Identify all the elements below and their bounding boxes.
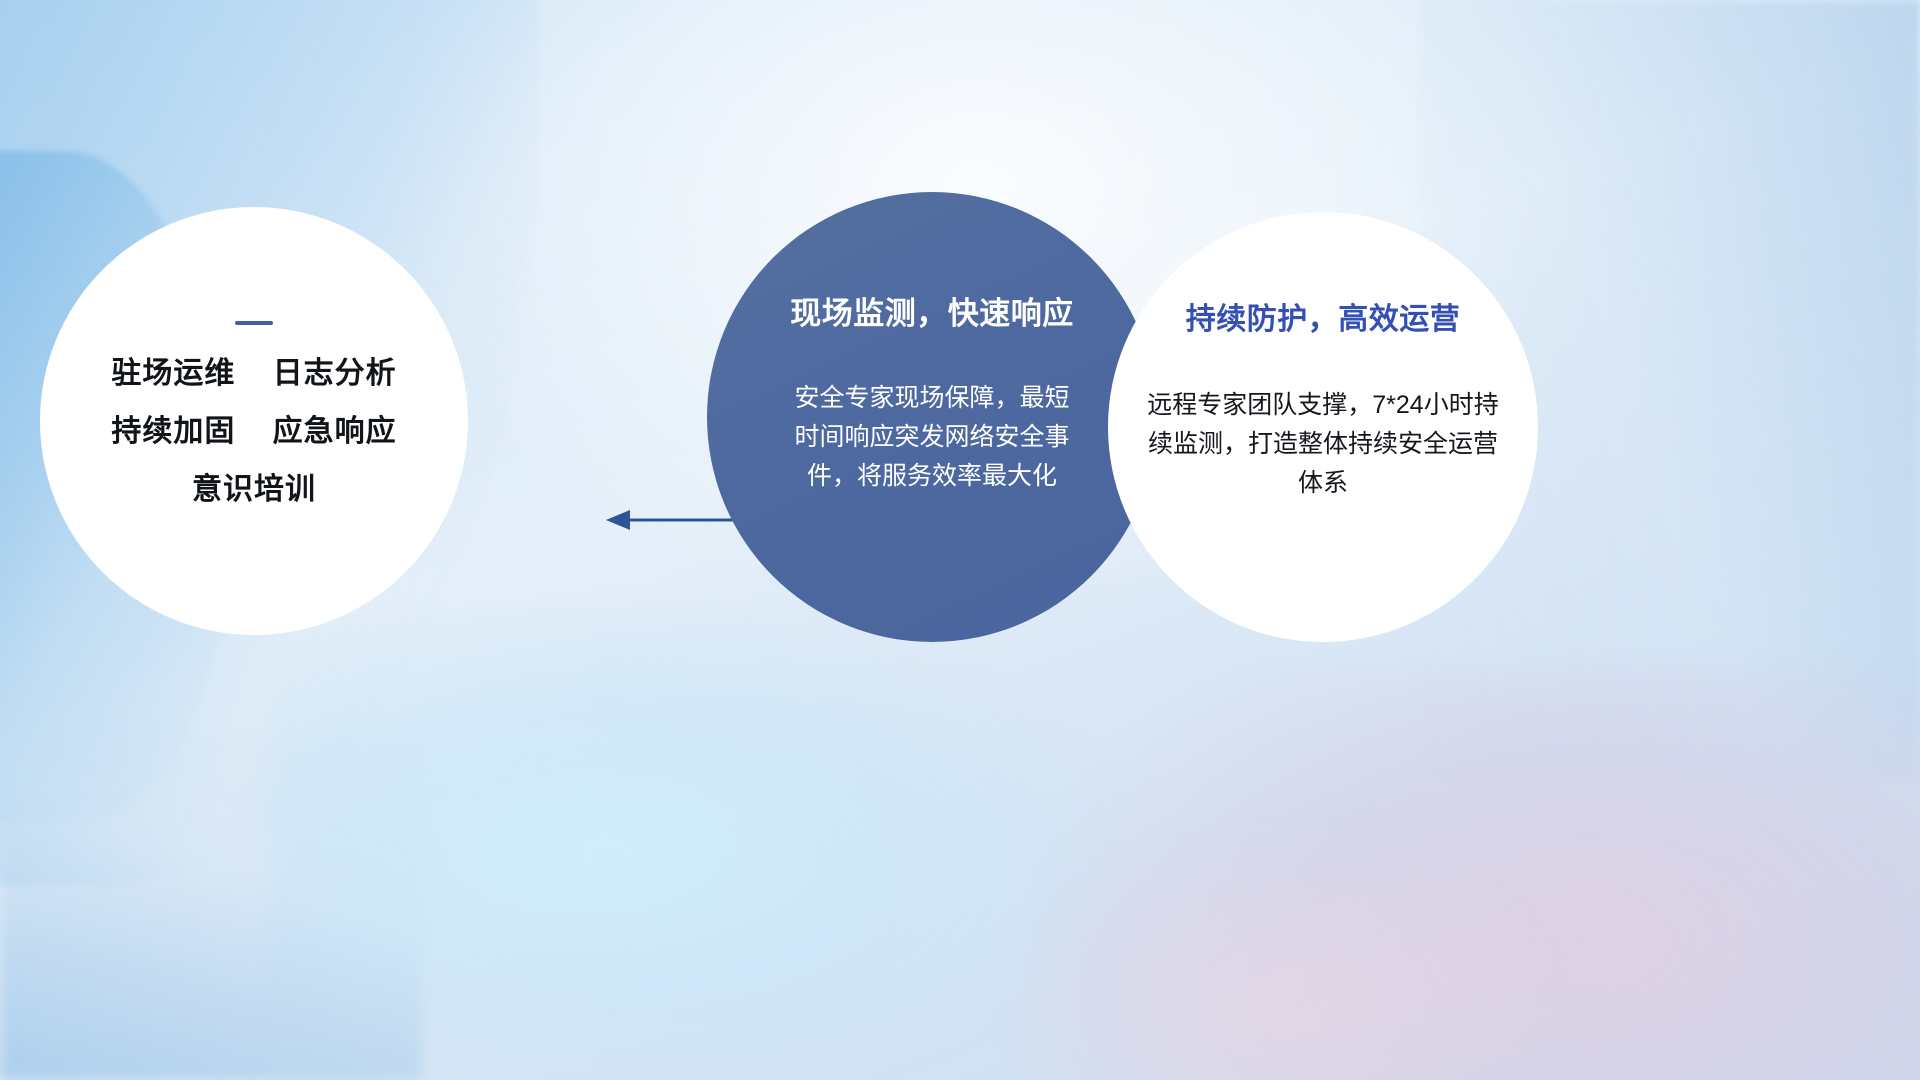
background-edge-bottom-left — [0, 734, 422, 1080]
capability-line-3: 意识培训 — [111, 475, 396, 505]
onsite-monitoring-body: 安全专家现场保障，最短时间响应突发网络安全事件，将服务效率最大化 — [787, 379, 1077, 495]
arrowhead-icon — [606, 510, 630, 530]
capability-line-2: 持续加固 应急响应 — [111, 417, 396, 447]
capability-circle-left[interactable]: 驻场运维 日志分析 持续加固 应急响应 意识培训 — [40, 207, 468, 635]
divider-dash — [235, 321, 273, 325]
continuous-protection-body: 远程专家团队支撑，7*24小时持续监测，打造整体持续安全运营体系 — [1139, 386, 1507, 502]
continuous-protection-title: 持续防护，高效运营 — [1186, 294, 1461, 338]
onsite-monitoring-circle[interactable]: 现场监测，快速响应 安全专家现场保障，最短时间响应突发网络安全事件，将服务效率最… — [707, 192, 1157, 642]
capability-line-1: 驻场运维 日志分析 — [111, 359, 396, 389]
background-glow-pink-secondary — [998, 821, 1574, 1080]
continuous-protection-circle[interactable]: 持续防护，高效运营 远程专家团队支撑，7*24小时持续监测，打造整体持续安全运营… — [1108, 212, 1538, 642]
onsite-monitoring-title: 现场监测，快速响应 — [790, 288, 1074, 333]
capability-list: 驻场运维 日志分析 持续加固 应急响应 意识培训 — [111, 359, 396, 505]
